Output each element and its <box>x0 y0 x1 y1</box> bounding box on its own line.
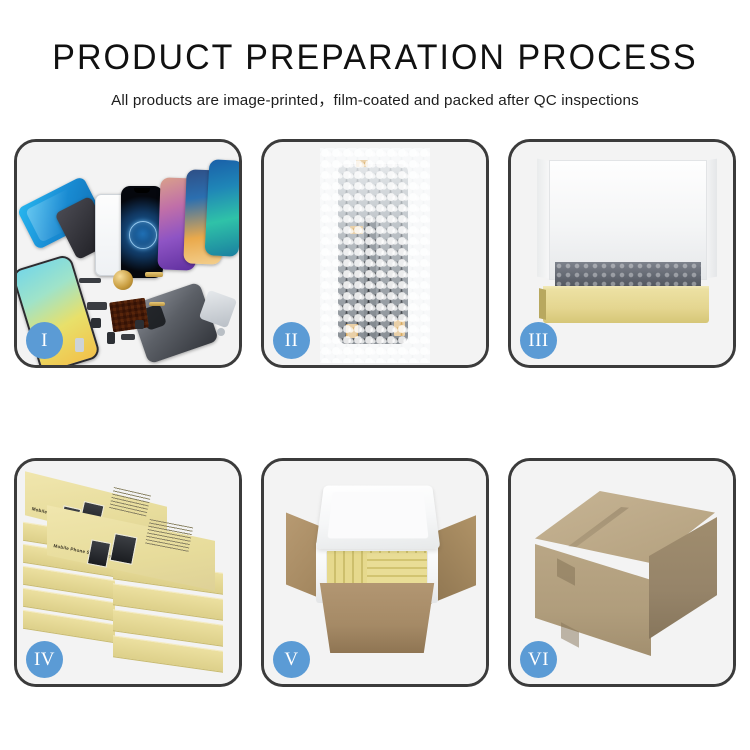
process-step-4: Mobile Phone Spare Parts Mobile Phone Sp… <box>14 458 242 687</box>
spare-part-strip <box>79 278 101 283</box>
product-preparation-infographic: PRODUCT PREPARATION PROCESS All products… <box>0 0 750 750</box>
step-badge-4: IV <box>26 641 63 678</box>
process-step-6: VI <box>508 458 736 687</box>
styrofoam-lid <box>316 486 441 549</box>
process-step-5: V <box>261 458 489 687</box>
spare-part-connector <box>87 302 107 310</box>
spare-part-gold-contact <box>149 302 165 306</box>
process-step-2: II <box>261 139 489 368</box>
bubble-wrap-highlights <box>320 148 430 363</box>
spare-part-bracket <box>107 332 115 344</box>
spare-part-sim-tray <box>75 338 84 352</box>
box-tray-side <box>539 288 546 320</box>
box-tray-yellow <box>543 290 709 323</box>
spare-part-button <box>135 320 144 329</box>
phone-screen-teal <box>205 159 242 257</box>
step-badge-5: V <box>273 641 310 678</box>
process-step-3: III <box>508 139 736 368</box>
carton-front-face <box>535 544 651 656</box>
step-badge-1: I <box>26 322 63 359</box>
page-title: PRODUCT PREPARATION PROCESS <box>11 38 739 78</box>
step-badge-2: II <box>273 322 310 359</box>
outer-carton-open <box>312 583 442 653</box>
step-badge-6: VI <box>520 641 557 678</box>
spare-part-screw <box>217 328 225 336</box>
spare-part-gold-flex <box>145 272 163 277</box>
step-badge-3: III <box>520 322 557 359</box>
process-step-1: I <box>14 139 242 368</box>
spare-part-clip <box>121 334 135 340</box>
header: PRODUCT PREPARATION PROCESS All products… <box>0 38 750 110</box>
phone-screen-spiral-wallpaper <box>121 186 163 278</box>
bubble-wrap-package <box>320 148 430 363</box>
vibration-motor-part <box>113 270 133 290</box>
process-step-grid: I II <box>14 139 736 687</box>
page-subtitle: All products are image-printed，film-coat… <box>0 88 750 110</box>
spare-part-chip <box>91 318 101 328</box>
